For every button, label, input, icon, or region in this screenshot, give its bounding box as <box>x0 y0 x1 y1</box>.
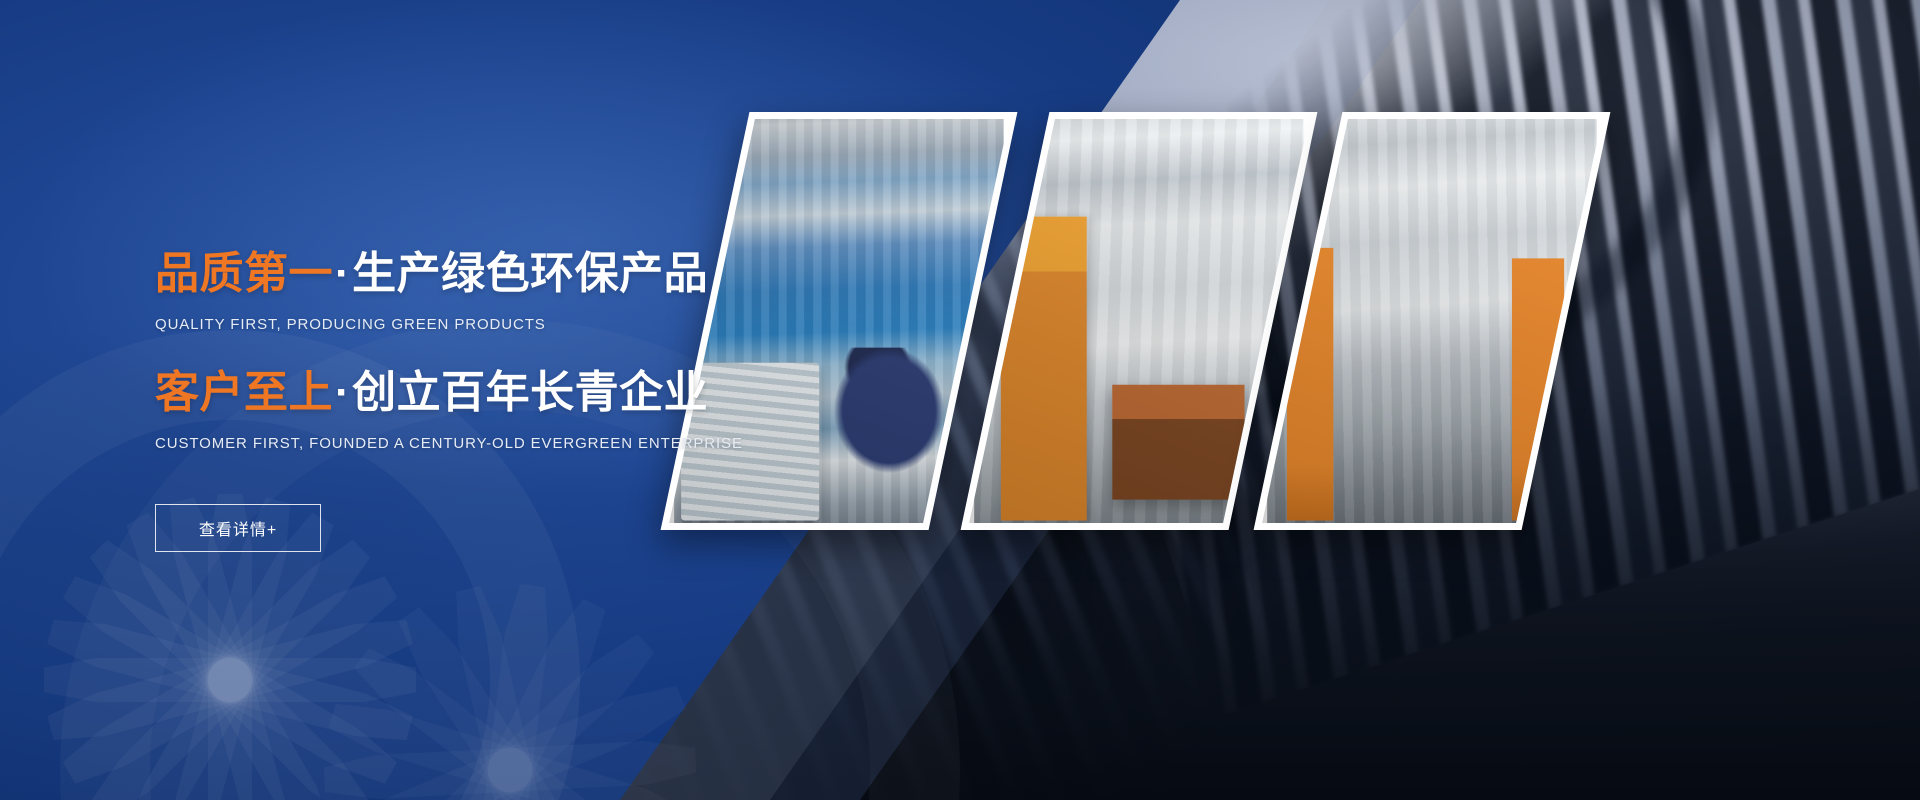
headline-secondary-separator: · <box>333 368 352 417</box>
subtitle-primary: QUALITY FIRST, PRODUCING GREEN PRODUCTS <box>155 316 875 333</box>
view-details-button[interactable]: 查看详情+ <box>155 504 321 552</box>
hero-banner: 品质第一·生产绿色环保产品 QUALITY FIRST, PRODUCING G… <box>0 0 1920 800</box>
headline-secondary: 客户至上·创立百年长青企业 <box>155 367 875 419</box>
headline-primary: 品质第一·生产绿色环保产品 <box>155 248 875 300</box>
headline-primary-separator: · <box>333 249 352 298</box>
subtitle-secondary: CUSTOMER FIRST, FOUNDED A CENTURY-OLD EV… <box>155 435 875 452</box>
headline-secondary-accent: 客户至上 <box>155 368 333 417</box>
headline-primary-accent: 品质第一 <box>155 249 333 298</box>
hero-text-block: 品质第一·生产绿色环保产品 QUALITY FIRST, PRODUCING G… <box>155 0 875 800</box>
headline-secondary-rest: 创立百年长青企业 <box>352 368 708 417</box>
headline-primary-rest: 生产绿色环保产品 <box>352 249 708 298</box>
